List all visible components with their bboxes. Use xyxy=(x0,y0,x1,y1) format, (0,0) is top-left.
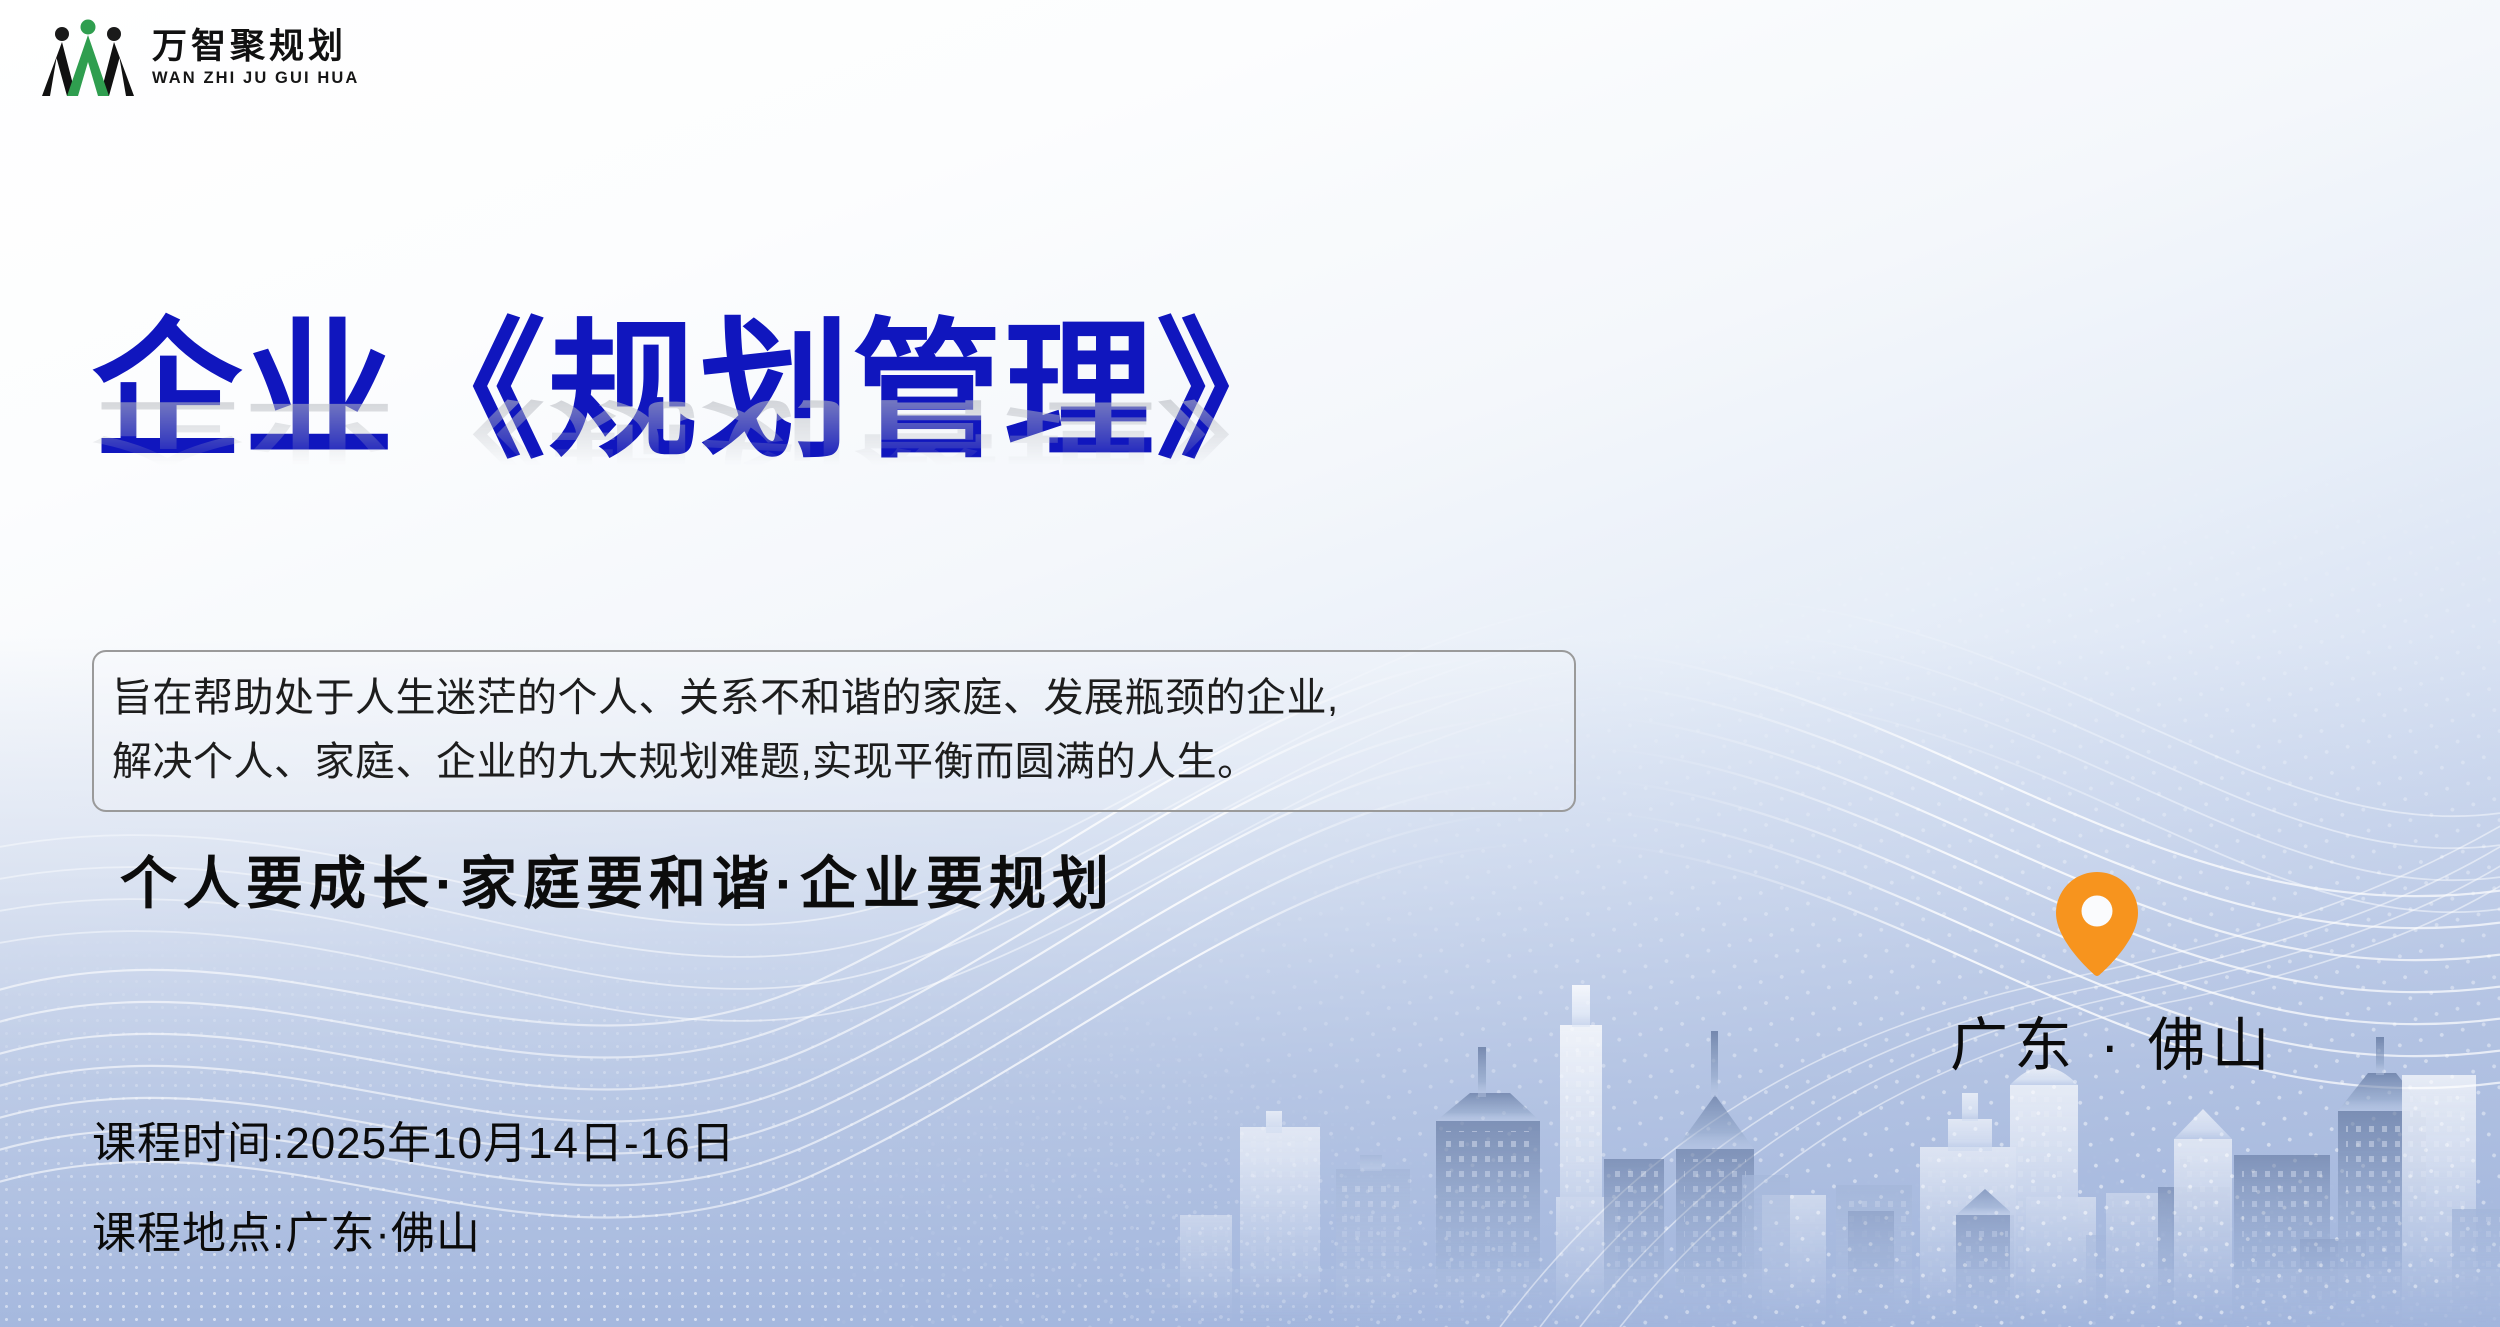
hero-title-block: 企业《规划管理》 企业《规划管理》 xyxy=(92,316,1308,618)
map-pin-icon xyxy=(2056,872,2138,976)
brand-name-en: WAN ZHI JU GUI HUA xyxy=(152,69,359,87)
slogan-text: 个人要成长·家庭要和谐·企业要规划 xyxy=(120,838,1115,920)
course-time: 课程时间:2025年10月14日-16日 xyxy=(92,1122,736,1166)
brand-logo-text: 万智聚规划 WAN ZHI JU GUI HUA xyxy=(152,27,359,87)
three-people-mountain-logo-icon xyxy=(42,18,134,96)
description-line-2: 解决个人、家庭、企业的九大规划难题,实现平衡而圆满的人生。 xyxy=(112,730,1552,794)
description-line-1: 旨在帮助处于人生迷茫的个人、关系不和谐的家庭、发展瓶颈的企业, xyxy=(112,666,1552,730)
course-info: 课程时间:2025年10月14日-16日 课程地点:广东·佛山 xyxy=(92,1122,736,1256)
course-place: 课程地点:广东·佛山 xyxy=(92,1212,736,1256)
brand-name-cn: 万智聚规划 xyxy=(152,27,359,66)
description-box: 旨在帮助处于人生迷茫的个人、关系不和谐的家庭、发展瓶颈的企业, 解决个人、家庭、… xyxy=(92,650,1576,812)
page-title-reflection: 企业《规划管理》 xyxy=(92,396,1308,468)
location-block: 广东 · 佛山 xyxy=(1950,872,2500,1082)
promo-banner: 万智聚规划 WAN ZHI JU GUI HUA 企业《规划管理》 企业《规划管… xyxy=(0,0,2500,1327)
brand-logo[interactable]: 万智聚规划 WAN ZHI JU GUI HUA xyxy=(42,18,359,96)
location-label: 广东 · 佛山 xyxy=(1950,998,2500,1082)
